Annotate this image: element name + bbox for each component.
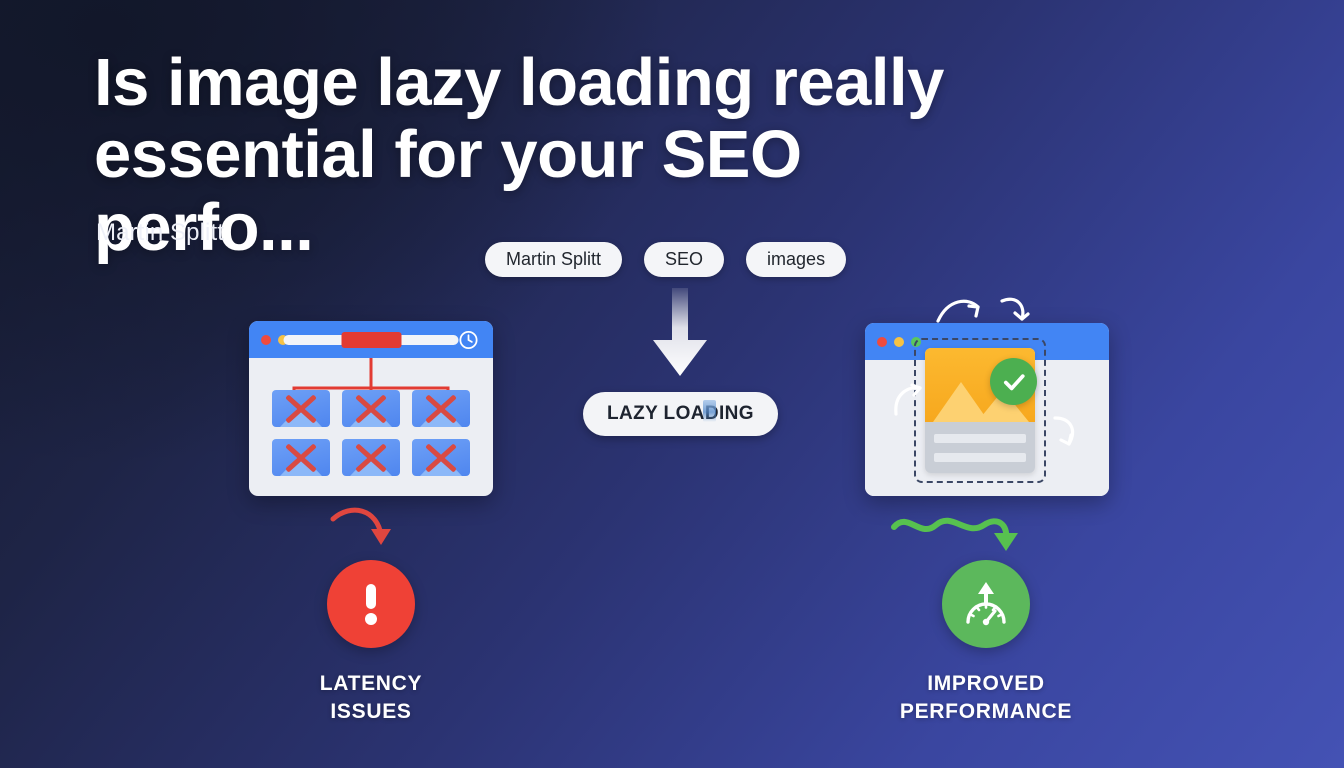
broken-image-icon (342, 439, 400, 476)
author-byline: Martin Splitt (96, 219, 224, 247)
close-dot-icon[interactable] (877, 337, 887, 347)
broken-image-icon (342, 390, 400, 427)
tag-pill-seo[interactable]: SEO (644, 242, 724, 277)
curve-arrow-left-icon (890, 378, 932, 424)
latency-issues: LATENCY ISSUES (241, 560, 501, 727)
wavy-arrow-green-icon (890, 505, 1035, 563)
slide-canvas: Is image lazy loading really essential f… (0, 0, 1344, 768)
check-circle-icon (990, 358, 1037, 405)
broken-image-icon (272, 439, 330, 476)
tag-pill-images[interactable]: images (746, 242, 846, 277)
url-bar-load-segment (341, 332, 401, 348)
url-bar[interactable] (284, 335, 459, 345)
close-dot-icon[interactable] (261, 335, 271, 345)
browser-title-bar (249, 321, 493, 358)
image-tile-grid (272, 390, 470, 476)
improved-performance: IMPROVED PERFORMANCE (856, 560, 1116, 727)
tag-pill-author[interactable]: Martin Splitt (485, 242, 622, 277)
broken-image-icon (412, 439, 470, 476)
lazy-loading-pill[interactable]: LAZY LOADING (583, 392, 778, 436)
arrow-down-icon (645, 288, 715, 378)
tag-list: Martin Splitt SEO images (485, 242, 846, 277)
latency-issues-label: LATENCY ISSUES (241, 670, 501, 727)
broken-image-icon (412, 390, 470, 427)
page-title: Is image lazy loading really essential f… (94, 47, 1014, 264)
content-lines (925, 422, 1035, 473)
clock-icon (458, 329, 479, 350)
broken-image-icon (272, 390, 330, 427)
browser-viewport (249, 358, 493, 496)
minimize-dot-icon[interactable] (894, 337, 904, 347)
curved-arrow-red-icon (329, 505, 419, 561)
blocked-images-browser (249, 321, 493, 496)
speedometer-up-icon (942, 560, 1030, 648)
curve-arrow-up-right-icon (930, 293, 1050, 339)
curve-arrow-down-right-icon (1045, 412, 1087, 460)
improved-performance-label: IMPROVED PERFORMANCE (856, 670, 1116, 727)
exclamation-circle-icon (327, 560, 415, 648)
